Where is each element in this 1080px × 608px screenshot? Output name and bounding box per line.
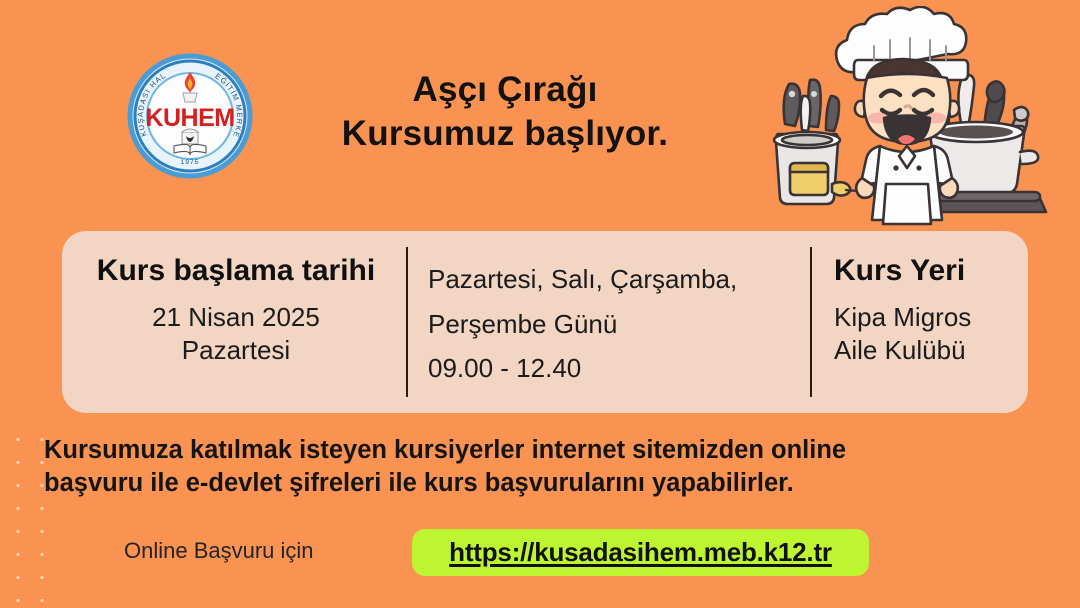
start-day-value: Pazartesi: [76, 334, 396, 367]
info-card: Kurs başlama tarihi 21 Nisan 2025 Pazart…: [62, 231, 1028, 413]
poster-root: KUŞADASI HALK EĞİTİM MERKEZİ KUHEM 197: [0, 0, 1080, 608]
schedule-days-line-2: Perşembe Günü: [428, 302, 810, 347]
title-line-1: Aşçı Çırağı: [270, 68, 740, 112]
svg-text:KUHEM: KUHEM: [145, 104, 234, 132]
start-date-value: 21 Nisan 2025: [76, 301, 396, 334]
online-application-label: Online Başvuru için: [124, 538, 314, 564]
info-column-start-date: Kurs başlama tarihi 21 Nisan 2025 Pazart…: [62, 231, 406, 413]
website-url-text[interactable]: https://kusadasihem.meb.k12.tr: [449, 537, 832, 568]
location-line-2: Aile Kulübü: [834, 334, 1028, 367]
page-title: Aşçı Çırağı Kursumuz başlıyor.: [270, 68, 740, 157]
kuhem-logo: KUŞADASI HALK EĞİTİM MERKEZİ KUHEM 197: [124, 52, 256, 180]
dot-grid-decoration: [0, 424, 44, 608]
schedule-days-line-1: Pazartesi, Salı, Çarşamba,: [428, 257, 810, 302]
title-line-2: Kursumuz başlıyor.: [270, 112, 740, 156]
location-line-1: Kipa Migros: [834, 301, 1028, 334]
info-column-location: Kurs Yeri Kipa Migros Aile Kulübü: [812, 231, 1028, 413]
application-paragraph: Kursumuza katılmak isteyen kursiyerler i…: [44, 434, 1044, 500]
schedule-hours: 09.00 - 12.40: [428, 346, 810, 391]
column-heading-location: Kurs Yeri: [834, 253, 1028, 289]
column-value-location: Kipa Migros Aile Kulübü: [834, 301, 1028, 368]
paragraph-line-1: Kursumuza katılmak isteyen kursiyerler i…: [44, 434, 1044, 467]
info-column-schedule: Pazartesi, Salı, Çarşamba, Perşembe Günü…: [408, 231, 810, 413]
svg-text:1975: 1975: [181, 159, 199, 166]
column-heading-start-date: Kurs başlama tarihi: [76, 253, 396, 289]
website-url-button[interactable]: https://kusadasihem.meb.k12.tr: [412, 529, 869, 576]
chef-boy-illustration: [762, 6, 1068, 228]
paragraph-line-2: başvuru ile e-devlet şifreleri ile kurs …: [44, 467, 1044, 500]
column-value-start-date: 21 Nisan 2025 Pazartesi: [76, 301, 396, 368]
